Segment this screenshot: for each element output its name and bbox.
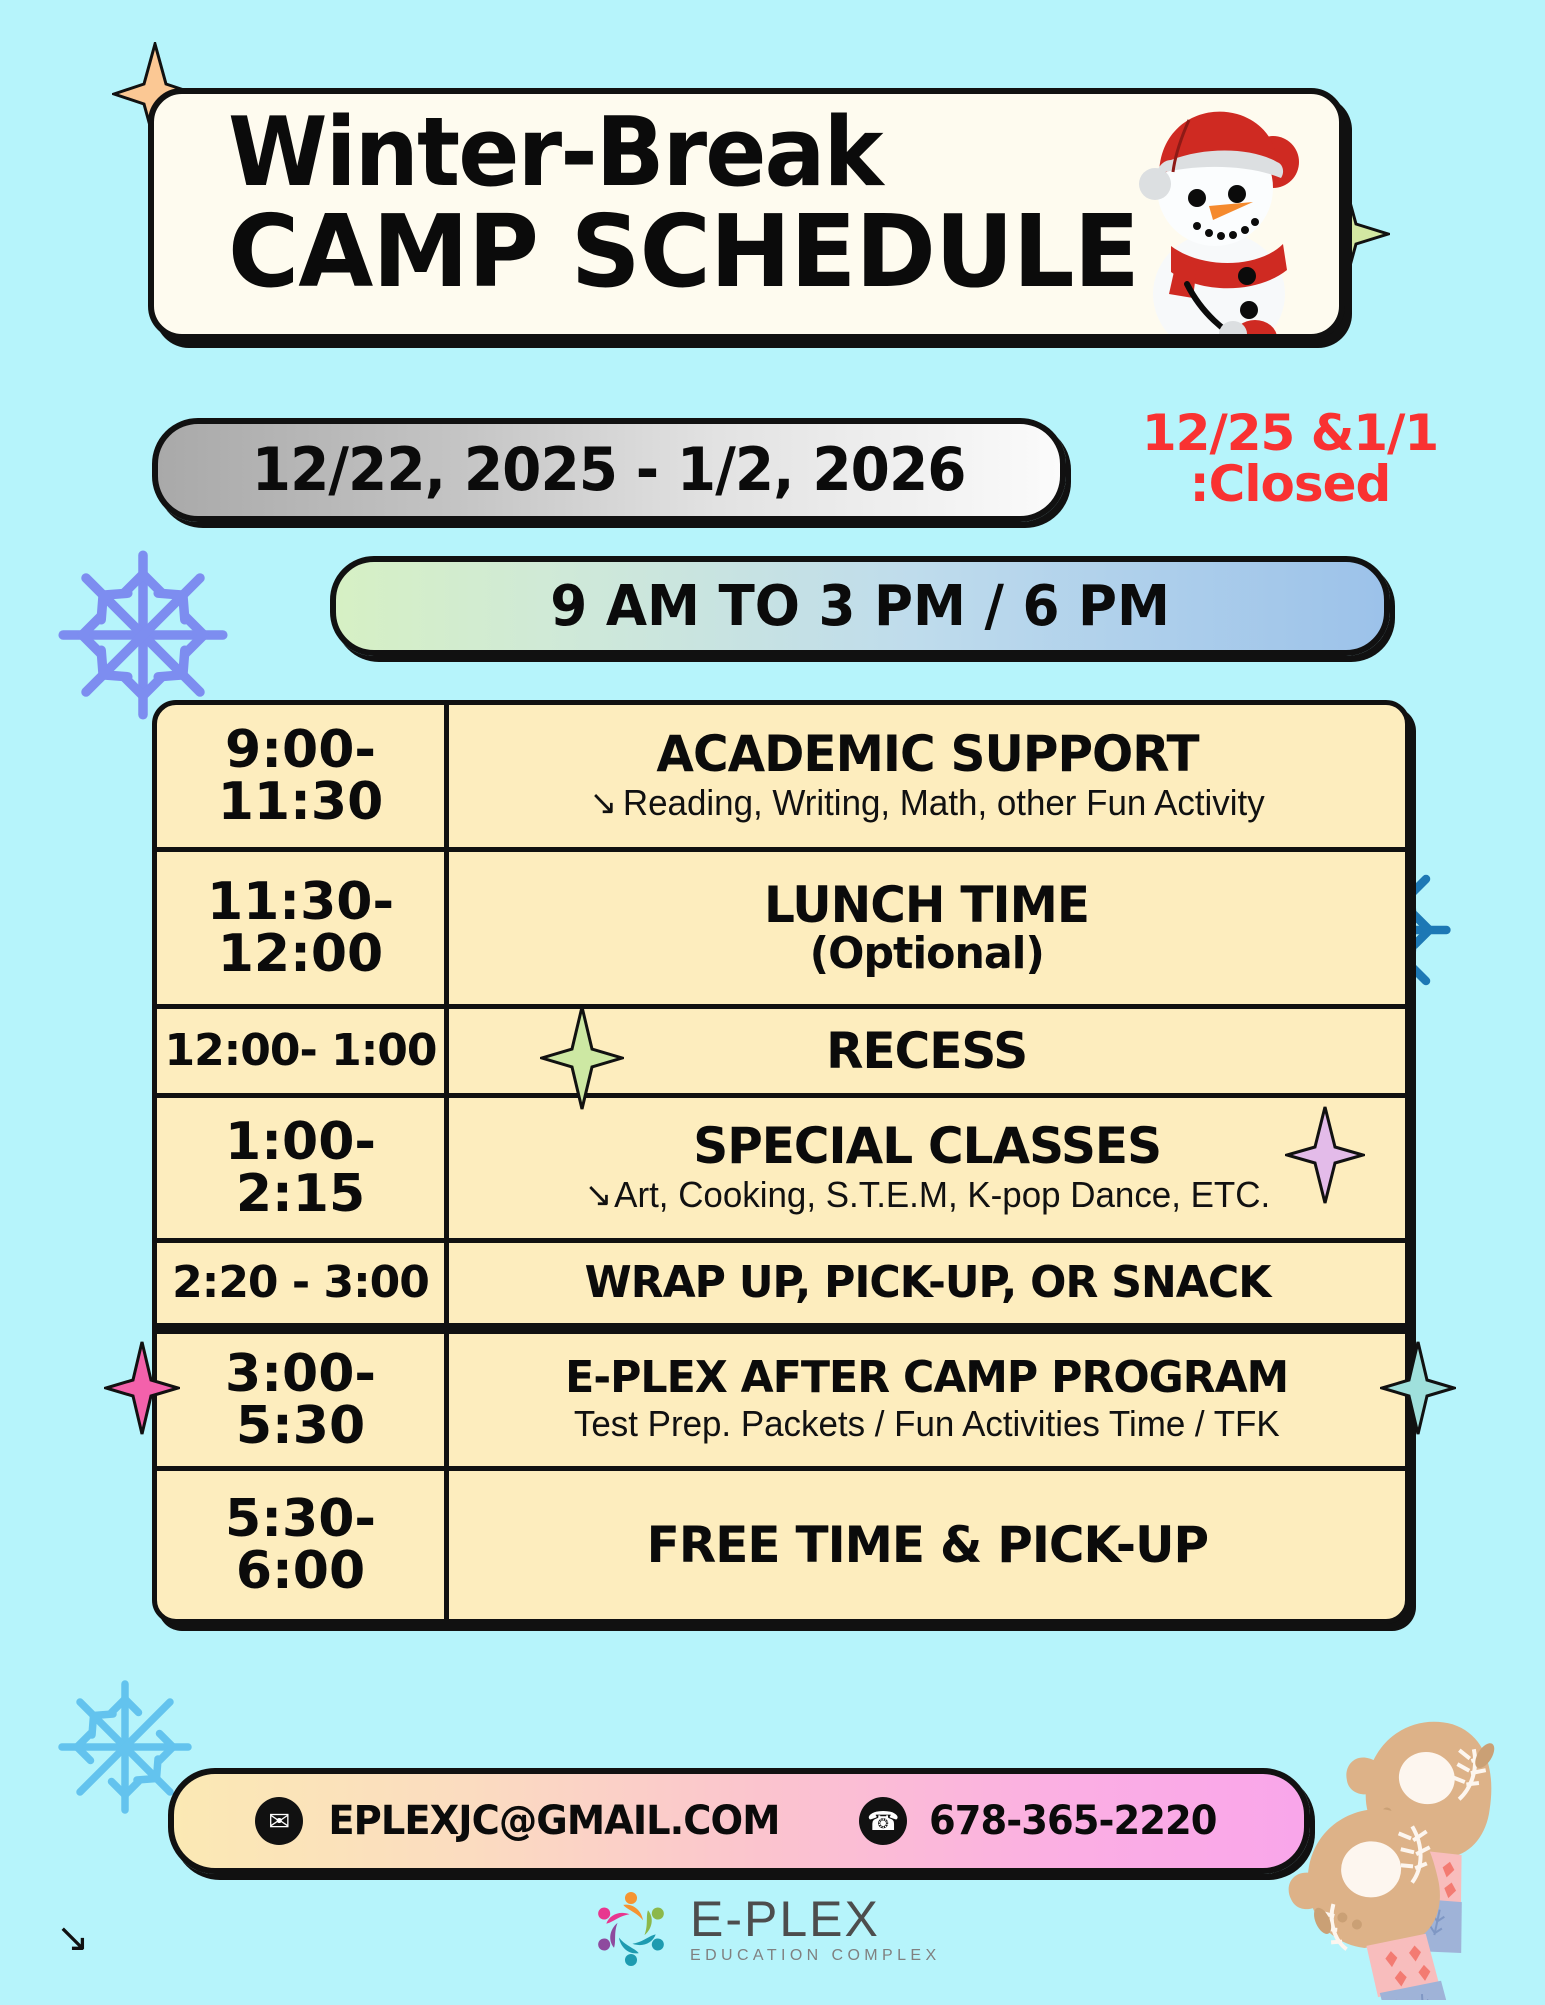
- arrow-down-right-icon: ↘: [589, 786, 617, 820]
- row-title: ACADEMIC SUPPORT: [656, 728, 1198, 780]
- row-time-line: 6:00: [225, 1545, 376, 1597]
- row-time-line: 2:20 - 3:00: [172, 1261, 429, 1305]
- row-subtitle-wrap: ↘ Reading, Writing, Math, other Fun Acti…: [589, 782, 1264, 824]
- logo-tagline: EDUCATION COMPLEX: [690, 1948, 941, 1964]
- contact-bar: ✉ EPLEXJC@GMAIL.COM ☎ 678-365-2220: [168, 1768, 1310, 1874]
- logo-name: E-PLEX: [690, 1894, 941, 1944]
- table-row: 1:00- 2:15 SPECIAL CLASSES ↘ Art, Cookin…: [157, 1098, 1405, 1243]
- row-time-line: 3:00-: [225, 1348, 376, 1400]
- title-card: Winter-Break CAMP SCHEDULE: [148, 88, 1345, 340]
- brand-logo: E-PLEX EDUCATION COMPLEX: [588, 1886, 941, 1972]
- closed-dates-note: 12/25 &1/1 :Closed: [1090, 408, 1490, 510]
- page-title-line2: CAMP SCHEDULE: [228, 202, 1139, 302]
- row-title: LUNCH TIME: [764, 879, 1089, 931]
- table-row: 9:00- 11:30 ACADEMIC SUPPORT ↘ Reading, …: [157, 705, 1405, 852]
- row-title: E-PLEX AFTER CAMP PROGRAM: [566, 1355, 1289, 1401]
- row-time-line: 11:30: [218, 776, 384, 828]
- lime-sparkle-icon: [540, 1005, 624, 1116]
- row-body-cell: FREE TIME & PICK-UP: [449, 1471, 1405, 1619]
- row-time-line: 9:00-: [218, 724, 384, 776]
- row-time-line: 5:30: [225, 1400, 376, 1452]
- row-time-line: 12:00: [207, 928, 394, 980]
- row-title: FREE TIME & PICK-UP: [646, 1519, 1207, 1571]
- row-body-cell: ACADEMIC SUPPORT ↘ Reading, Writing, Mat…: [449, 705, 1405, 847]
- email-text: EPLEXJC@GMAIL.COM: [329, 1798, 780, 1844]
- row-time-cell: 11:30- 12:00: [157, 852, 449, 1004]
- row-time-cell: 9:00- 11:30: [157, 705, 449, 847]
- row-time-cell: 3:00- 5:30: [157, 1334, 449, 1466]
- row-time-cell: 2:20 - 3:00: [157, 1243, 449, 1323]
- phone-text: 678-365-2220: [929, 1798, 1217, 1844]
- closed-dates-line1: 12/25 &1/1: [1090, 408, 1490, 459]
- flyer-page: Winter-Break CAMP SCHEDULE: [0, 0, 1545, 2000]
- row-body-cell: LUNCH TIME (Optional): [449, 852, 1405, 1004]
- row-title: SPECIAL CLASSES: [693, 1120, 1161, 1172]
- mittens-icon: [1282, 1700, 1545, 2000]
- page-title-line1: Winter-Break: [228, 106, 882, 201]
- schedule-table: 9:00- 11:30 ACADEMIC SUPPORT ↘ Reading, …: [152, 700, 1410, 1624]
- row-body-cell: WRAP UP, PICK-UP, OR SNACK: [449, 1243, 1405, 1323]
- email-group[interactable]: ✉ EPLEXJC@GMAIL.COM: [255, 1797, 789, 1845]
- phone-group[interactable]: ☎ 678-365-2220: [859, 1797, 1223, 1845]
- row-subtitle: Reading, Writing, Math, other Fun Activi…: [623, 782, 1265, 824]
- table-row: 11:30- 12:00 LUNCH TIME (Optional): [157, 852, 1405, 1009]
- row-title: RECESS: [826, 1025, 1027, 1077]
- arrow-down-right-icon: ↘: [584, 1178, 612, 1212]
- table-row: 12:00- 1:00 RECESS: [157, 1009, 1405, 1098]
- row-subtitle: Test Prep. Packets / Fun Activities Time…: [574, 1403, 1280, 1445]
- row-time-line: 5:30-: [225, 1493, 376, 1545]
- pink-sparkle-icon: [104, 1340, 180, 1441]
- row-subtitle-wrap: ↘ Art, Cooking, S.T.E.M, K-pop Dance, ET…: [584, 1174, 1270, 1216]
- row-time-line: 2:15: [225, 1168, 376, 1220]
- row-body-cell: SPECIAL CLASSES ↘ Art, Cooking, S.T.E.M,…: [449, 1098, 1405, 1238]
- hours-text: 9 AM TO 3 PM / 6 PM: [550, 574, 1170, 639]
- corner-arrow-icon: ↘: [56, 1915, 90, 1961]
- row-time-line: 12:00- 1:00: [164, 1029, 436, 1073]
- row-body-cell: E-PLEX AFTER CAMP PROGRAM Test Prep. Pac…: [449, 1334, 1405, 1466]
- people-circle-logo-icon: [588, 1886, 674, 1972]
- table-row: 2:20 - 3:00 WRAP UP, PICK-UP, OR SNACK: [157, 1243, 1405, 1334]
- envelope-icon: ✉: [255, 1797, 303, 1845]
- table-row: 5:30- 6:00 FREE TIME & PICK-UP: [157, 1471, 1405, 1619]
- violet-sparkle-icon: [1285, 1105, 1365, 1210]
- row-time-cell: 5:30- 6:00: [157, 1471, 449, 1619]
- row-title: WRAP UP, PICK-UP, OR SNACK: [584, 1260, 1270, 1306]
- row-time-cell: 12:00- 1:00: [157, 1009, 449, 1093]
- phone-icon: ☎: [859, 1797, 907, 1845]
- snowman-icon: [1097, 98, 1345, 338]
- row-subtitle: Art, Cooking, S.T.E.M, K-pop Dance, ETC.: [614, 1174, 1270, 1216]
- row-time-cell: 1:00- 2:15: [157, 1098, 449, 1238]
- date-range-pill: 12/22, 2025 - 1/2, 2026: [152, 418, 1066, 522]
- date-range-text: 12/22, 2025 - 1/2, 2026: [252, 435, 966, 505]
- row-subtitle-wrap: Test Prep. Packets / Fun Activities Time…: [574, 1403, 1280, 1445]
- row-subtitle: (Optional): [810, 931, 1044, 977]
- table-row: 3:00- 5:30 E-PLEX AFTER CAMP PROGRAM Tes…: [157, 1334, 1405, 1471]
- hours-pill: 9 AM TO 3 PM / 6 PM: [330, 556, 1390, 656]
- row-time-line: 1:00-: [225, 1116, 376, 1168]
- teal-sparkle-icon: [1380, 1340, 1456, 1441]
- closed-dates-line2: :Closed: [1090, 459, 1490, 510]
- row-time-line: 11:30-: [207, 876, 394, 928]
